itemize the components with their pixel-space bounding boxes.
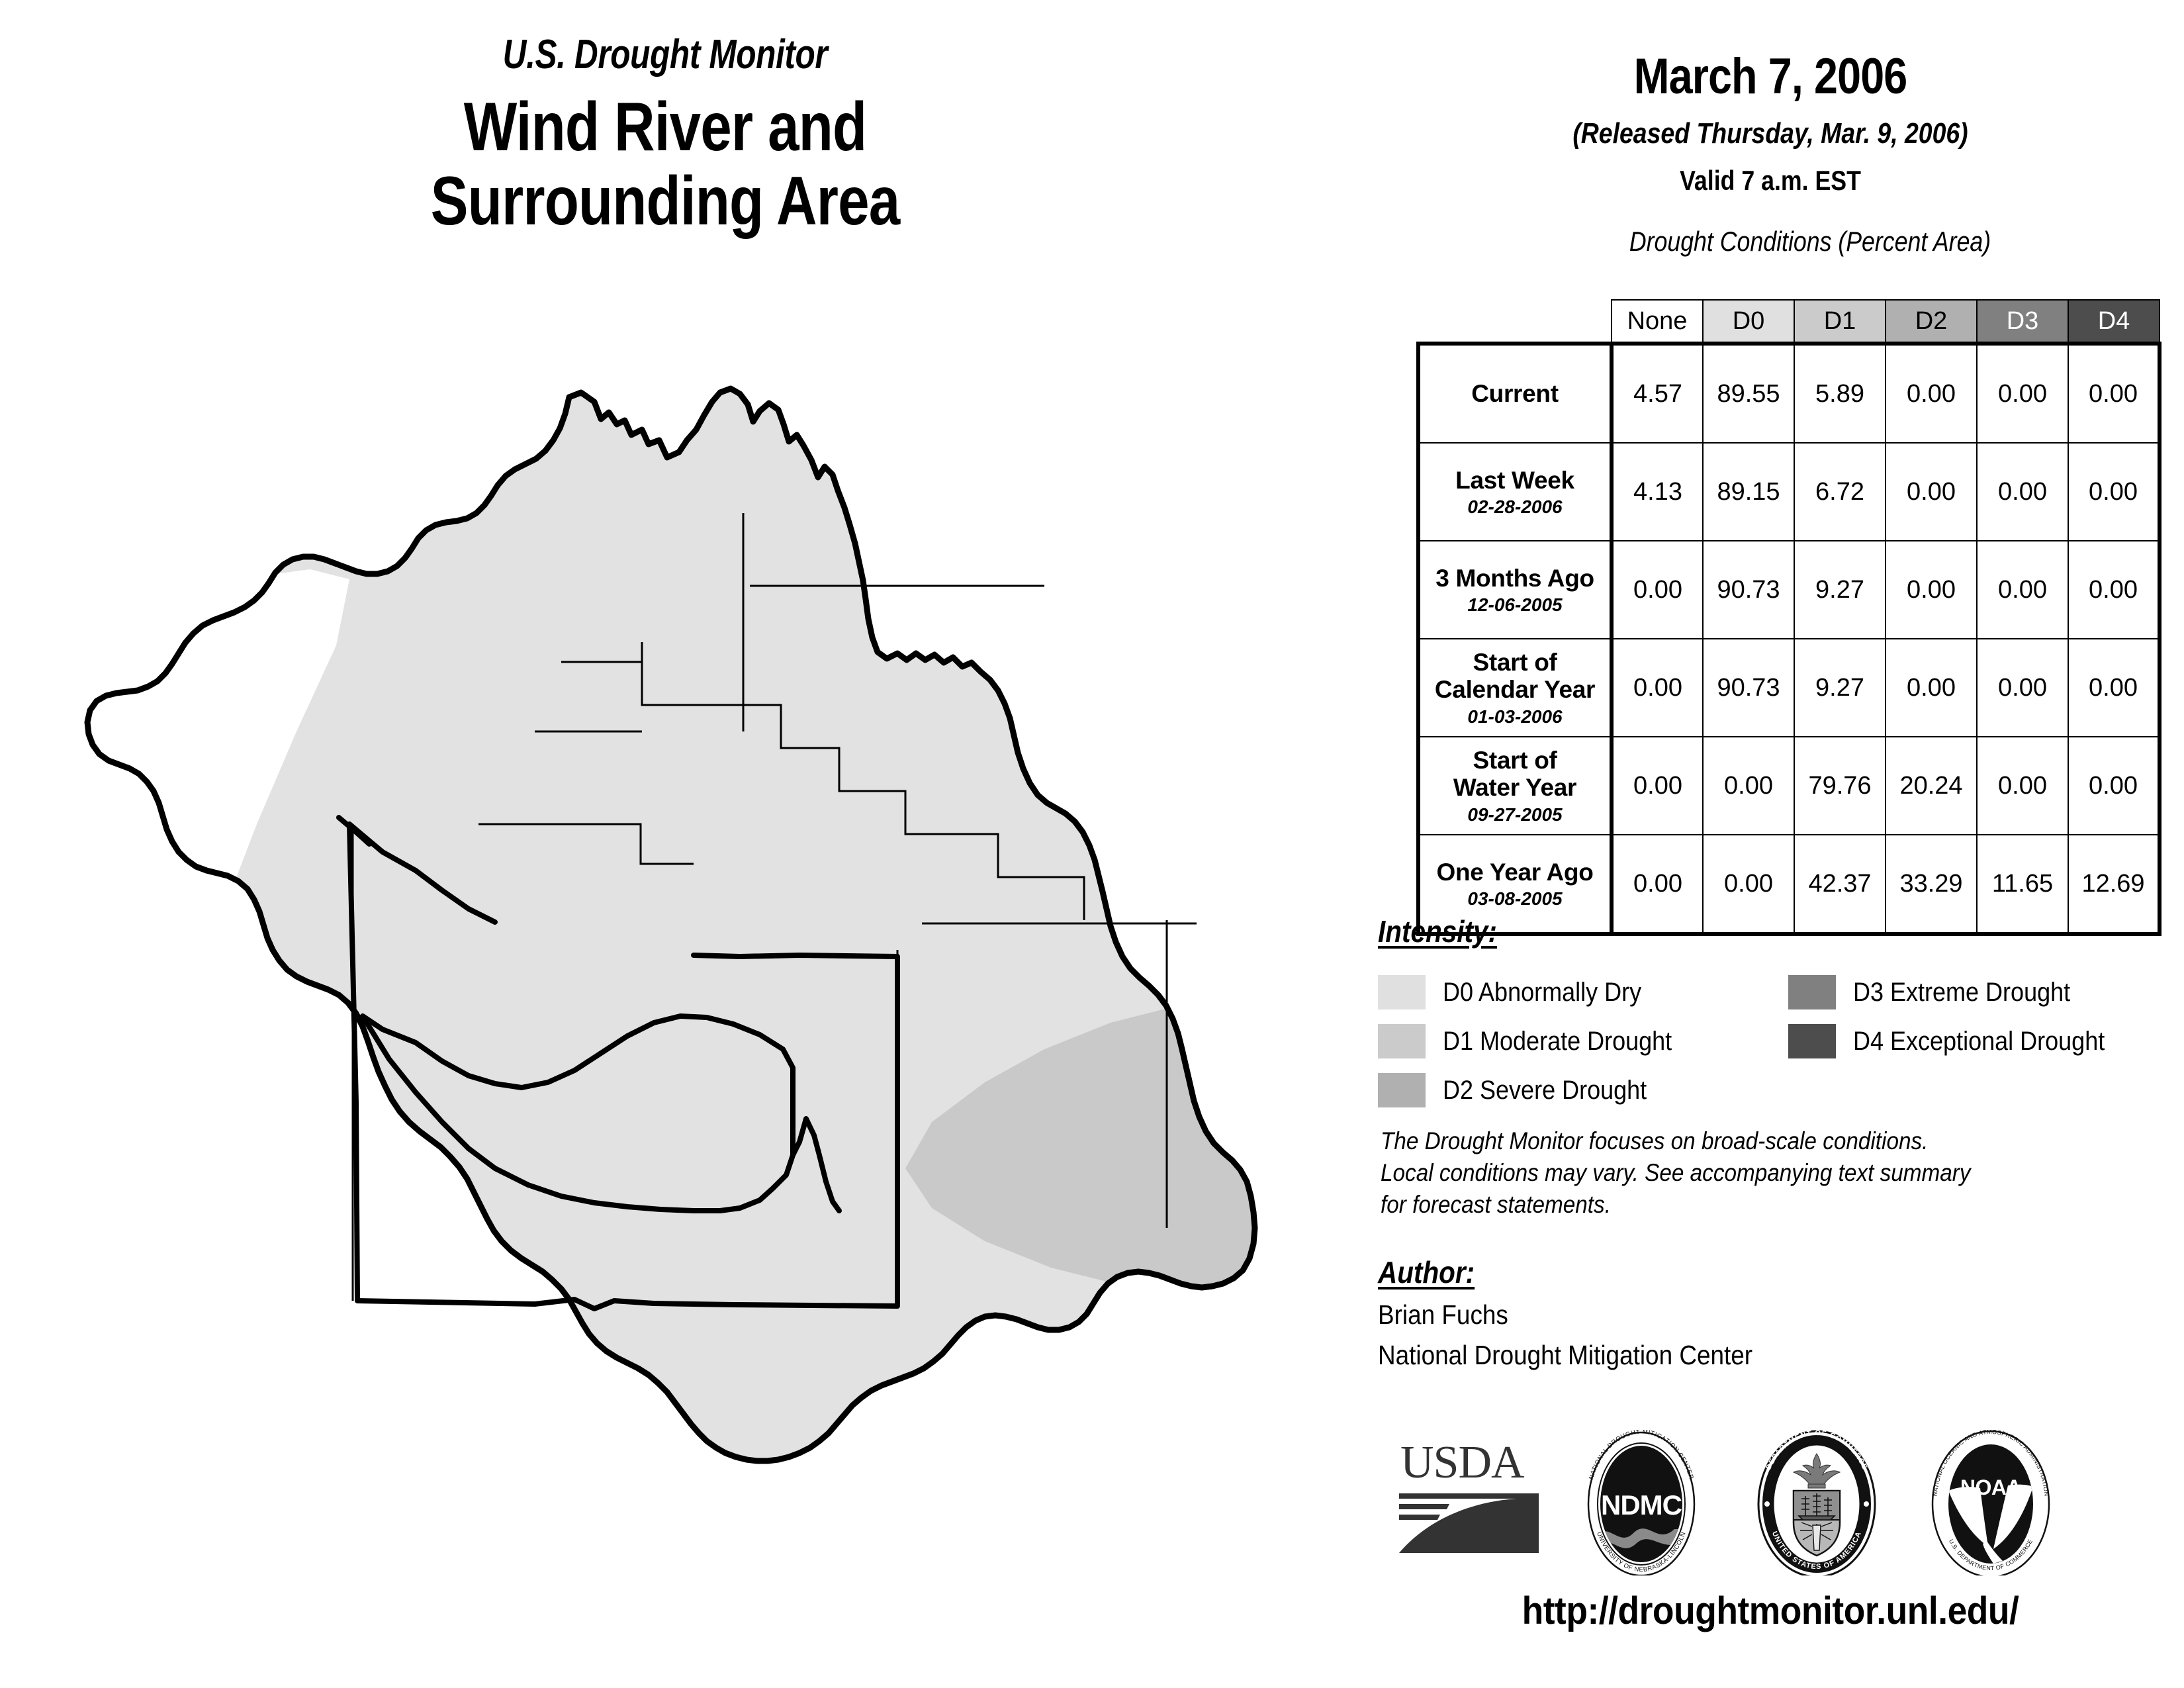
drought-map-svg bbox=[71, 361, 1349, 1516]
disclaimer-line-1: The Drought Monitor focuses on broad-sca… bbox=[1381, 1125, 2066, 1157]
page-title-line2: Surrounding Area bbox=[120, 164, 1210, 238]
legend-swatch-d2 bbox=[1378, 1073, 1426, 1107]
author-block: Author: Brian Fuchs National Drought Mit… bbox=[1378, 1254, 2139, 1371]
usda-logo-text: USDA bbox=[1400, 1437, 1525, 1488]
ndmc-logo-svg: NDMC NATIONAL DROUGHT MITIGATION CENTER … bbox=[1575, 1430, 1707, 1575]
cell-last-week-d4: 0.00 bbox=[2068, 443, 2160, 541]
legend-label-d3: D3 Extreme Drought bbox=[1853, 978, 2070, 1008]
release-date: March 7, 2006 bbox=[1419, 48, 2122, 105]
column-header-none: None bbox=[1612, 300, 1703, 344]
row-label-text-line2: Water Year bbox=[1424, 774, 1606, 801]
cell-calendar-year-d0: 90.73 bbox=[1703, 639, 1794, 737]
department-of-commerce-seal: DEPARTMENT OF COMMERCE UNITED STATES OF … bbox=[1747, 1430, 1886, 1575]
cell-calendar-year-d3: 0.00 bbox=[1977, 639, 2068, 737]
legend-swatch-d3 bbox=[1788, 975, 1836, 1009]
noaa-logo: NOAA NATIONAL OCEANIC AND ATMOSPHERIC AD… bbox=[1919, 1430, 2062, 1575]
legend-item-d1: D1 Moderate Drought bbox=[1378, 1024, 1788, 1058]
table-row: Current 4.57 89.55 5.89 0.00 0.00 0.00 bbox=[1418, 344, 2160, 443]
title-block: U.S. Drought Monitor Wind River and Surr… bbox=[0, 34, 1330, 239]
row-label-date: 09-27-2005 bbox=[1424, 804, 1606, 825]
column-header-d0: D0 bbox=[1703, 300, 1794, 344]
row-label-text: Last Week bbox=[1424, 467, 1606, 494]
cell-water-year-d1: 79.76 bbox=[1794, 737, 1886, 835]
cell-water-year-d3: 0.00 bbox=[1977, 737, 2068, 835]
row-label-text-line1: Start of bbox=[1424, 747, 1606, 774]
row-label-text-line2: Calendar Year bbox=[1424, 676, 1606, 703]
ndmc-logo-text: NDMC bbox=[1601, 1489, 1682, 1521]
author-heading: Author: bbox=[1378, 1254, 1475, 1290]
released-on-label: (Released Thursday, Mar. 9, 2006) bbox=[1419, 117, 2122, 150]
cell-3-months-d0: 90.73 bbox=[1703, 541, 1794, 639]
usda-logo-svg: USDA bbox=[1396, 1430, 1542, 1562]
cell-last-week-d2: 0.00 bbox=[1886, 443, 1977, 541]
cell-current-d0: 89.55 bbox=[1703, 344, 1794, 443]
row-label-date: 12-06-2005 bbox=[1424, 594, 1606, 615]
cell-current-d1: 5.89 bbox=[1794, 344, 1886, 443]
cell-last-week-d0: 89.15 bbox=[1703, 443, 1794, 541]
row-label-text: Current bbox=[1424, 380, 1606, 407]
table-corner-cell bbox=[1418, 300, 1612, 344]
noaa-logo-svg: NOAA NATIONAL OCEANIC AND ATMOSPHERIC AD… bbox=[1919, 1430, 2062, 1575]
map-fill-d0 bbox=[71, 361, 1349, 1516]
column-header-d4: D4 bbox=[2068, 300, 2160, 344]
cell-last-week-none: 4.13 bbox=[1612, 443, 1703, 541]
logo-row: USDA NDM bbox=[1370, 1430, 2177, 1582]
cell-3-months-d2: 0.00 bbox=[1886, 541, 1977, 639]
cell-last-week-d3: 0.00 bbox=[1977, 443, 2068, 541]
legend-swatch-d1 bbox=[1378, 1024, 1426, 1058]
row-label-3-months-ago: 3 Months Ago 12-06-2005 bbox=[1418, 541, 1612, 639]
row-label-current: Current bbox=[1418, 344, 1612, 443]
cell-water-year-d2: 20.24 bbox=[1886, 737, 1977, 835]
disclaimer-text: The Drought Monitor focuses on broad-sca… bbox=[1381, 1125, 2142, 1221]
drought-conditions-table: None D0 D1 D2 D3 D4 Current 4.57 89.55 5… bbox=[1416, 299, 2161, 936]
legend-grid: D0 Abnormally Dry D3 Extreme Drought D1 … bbox=[1378, 968, 2179, 1115]
author-name: Brian Fuchs bbox=[1378, 1299, 2063, 1331]
row-label-date: 03-08-2005 bbox=[1424, 888, 1606, 909]
cell-water-year-none: 0.00 bbox=[1612, 737, 1703, 835]
legend-label-d4: D4 Exceptional Drought bbox=[1853, 1027, 2105, 1056]
column-header-d1: D1 bbox=[1794, 300, 1886, 344]
author-affiliation: National Drought Mitigation Center bbox=[1378, 1340, 2063, 1371]
cell-calendar-year-d2: 0.00 bbox=[1886, 639, 1977, 737]
legend-item-d3: D3 Extreme Drought bbox=[1788, 975, 2179, 1009]
cell-current-d3: 0.00 bbox=[1977, 344, 2068, 443]
cell-current-d2: 0.00 bbox=[1886, 344, 1977, 443]
legend-label-d0: D0 Abnormally Dry bbox=[1443, 978, 1641, 1008]
disclaimer-line-2: Local conditions may vary. See accompany… bbox=[1381, 1157, 2066, 1189]
cell-calendar-year-d1: 9.27 bbox=[1794, 639, 1886, 737]
column-header-d3: D3 bbox=[1977, 300, 2068, 344]
row-label-last-week: Last Week 02-28-2006 bbox=[1418, 443, 1612, 541]
legend-item-d4: D4 Exceptional Drought bbox=[1788, 1024, 2179, 1058]
cell-water-year-d4: 0.00 bbox=[2068, 737, 2160, 835]
page-title-line1: Wind River and bbox=[464, 89, 866, 165]
row-label-start-of-water-year: Start of Water Year 09-27-2005 bbox=[1418, 737, 1612, 835]
row-label-start-of-calendar-year: Start of Calendar Year 01-03-2006 bbox=[1418, 639, 1612, 737]
intensity-legend: Intensity: D0 Abnormally Dry D3 Extreme … bbox=[1378, 914, 2179, 1115]
usda-logo: USDA bbox=[1396, 1430, 1542, 1562]
legend-label-d2: D2 Severe Drought bbox=[1443, 1076, 1647, 1105]
legend-swatch-d4 bbox=[1788, 1024, 1836, 1058]
noaa-logo-text: NOAA bbox=[1960, 1476, 2022, 1499]
legend-label-d1: D1 Moderate Drought bbox=[1443, 1027, 1672, 1056]
row-label-date: 02-28-2006 bbox=[1424, 496, 1606, 517]
table-row: Start of Water Year 09-27-2005 0.00 0.00… bbox=[1418, 737, 2160, 835]
cell-3-months-d3: 0.00 bbox=[1977, 541, 2068, 639]
column-header-d2: D2 bbox=[1886, 300, 1977, 344]
page-title: Wind River and Surrounding Area bbox=[120, 90, 1210, 239]
drought-map bbox=[71, 361, 1349, 1516]
row-label-text-line1: Start of bbox=[1424, 649, 1606, 676]
row-label-date: 01-03-2006 bbox=[1424, 706, 1606, 727]
cell-calendar-year-d4: 0.00 bbox=[2068, 639, 2160, 737]
cell-current-d4: 0.00 bbox=[2068, 344, 2160, 443]
legend-item-d0: D0 Abnormally Dry bbox=[1378, 975, 1788, 1009]
legend-swatch-d0 bbox=[1378, 975, 1426, 1009]
cell-calendar-year-none: 0.00 bbox=[1612, 639, 1703, 737]
drought-monitor-url[interactable]: http://droughtmonitor.unl.edu/ bbox=[1390, 1589, 2151, 1633]
row-label-text: One Year Ago bbox=[1424, 859, 1606, 886]
legend-item-d2: D2 Severe Drought bbox=[1378, 1073, 1788, 1107]
info-panel: March 7, 2006 (Released Thursday, Mar. 9… bbox=[1357, 0, 2184, 1688]
table-header-row: None D0 D1 D2 D3 D4 bbox=[1418, 300, 2160, 344]
cell-last-week-d1: 6.72 bbox=[1794, 443, 1886, 541]
map-region-fills bbox=[71, 361, 1349, 1516]
intensity-heading: Intensity: bbox=[1378, 914, 1497, 949]
disclaimer-line-3: for forecast statements. bbox=[1381, 1189, 2066, 1221]
cell-current-none: 4.57 bbox=[1612, 344, 1703, 443]
table-row: 3 Months Ago 12-06-2005 0.00 90.73 9.27 … bbox=[1418, 541, 2160, 639]
valid-time-label: Valid 7 a.m. EST bbox=[1419, 165, 2122, 197]
ndmc-logo: NDMC NATIONAL DROUGHT MITIGATION CENTER … bbox=[1575, 1430, 1707, 1575]
product-name: U.S. Drought Monitor bbox=[133, 34, 1197, 75]
cell-3-months-none: 0.00 bbox=[1612, 541, 1703, 639]
table-caption: Drought Conditions (Percent Area) bbox=[1492, 226, 2128, 258]
row-label-text: 3 Months Ago bbox=[1424, 565, 1606, 592]
cell-3-months-d4: 0.00 bbox=[2068, 541, 2160, 639]
table-row: Last Week 02-28-2006 4.13 89.15 6.72 0.0… bbox=[1418, 443, 2160, 541]
table-row: Start of Calendar Year 01-03-2006 0.00 9… bbox=[1418, 639, 2160, 737]
doc-seal-svg: DEPARTMENT OF COMMERCE UNITED STATES OF … bbox=[1747, 1430, 1886, 1575]
cell-3-months-d1: 9.27 bbox=[1794, 541, 1886, 639]
cell-water-year-d0: 0.00 bbox=[1703, 737, 1794, 835]
